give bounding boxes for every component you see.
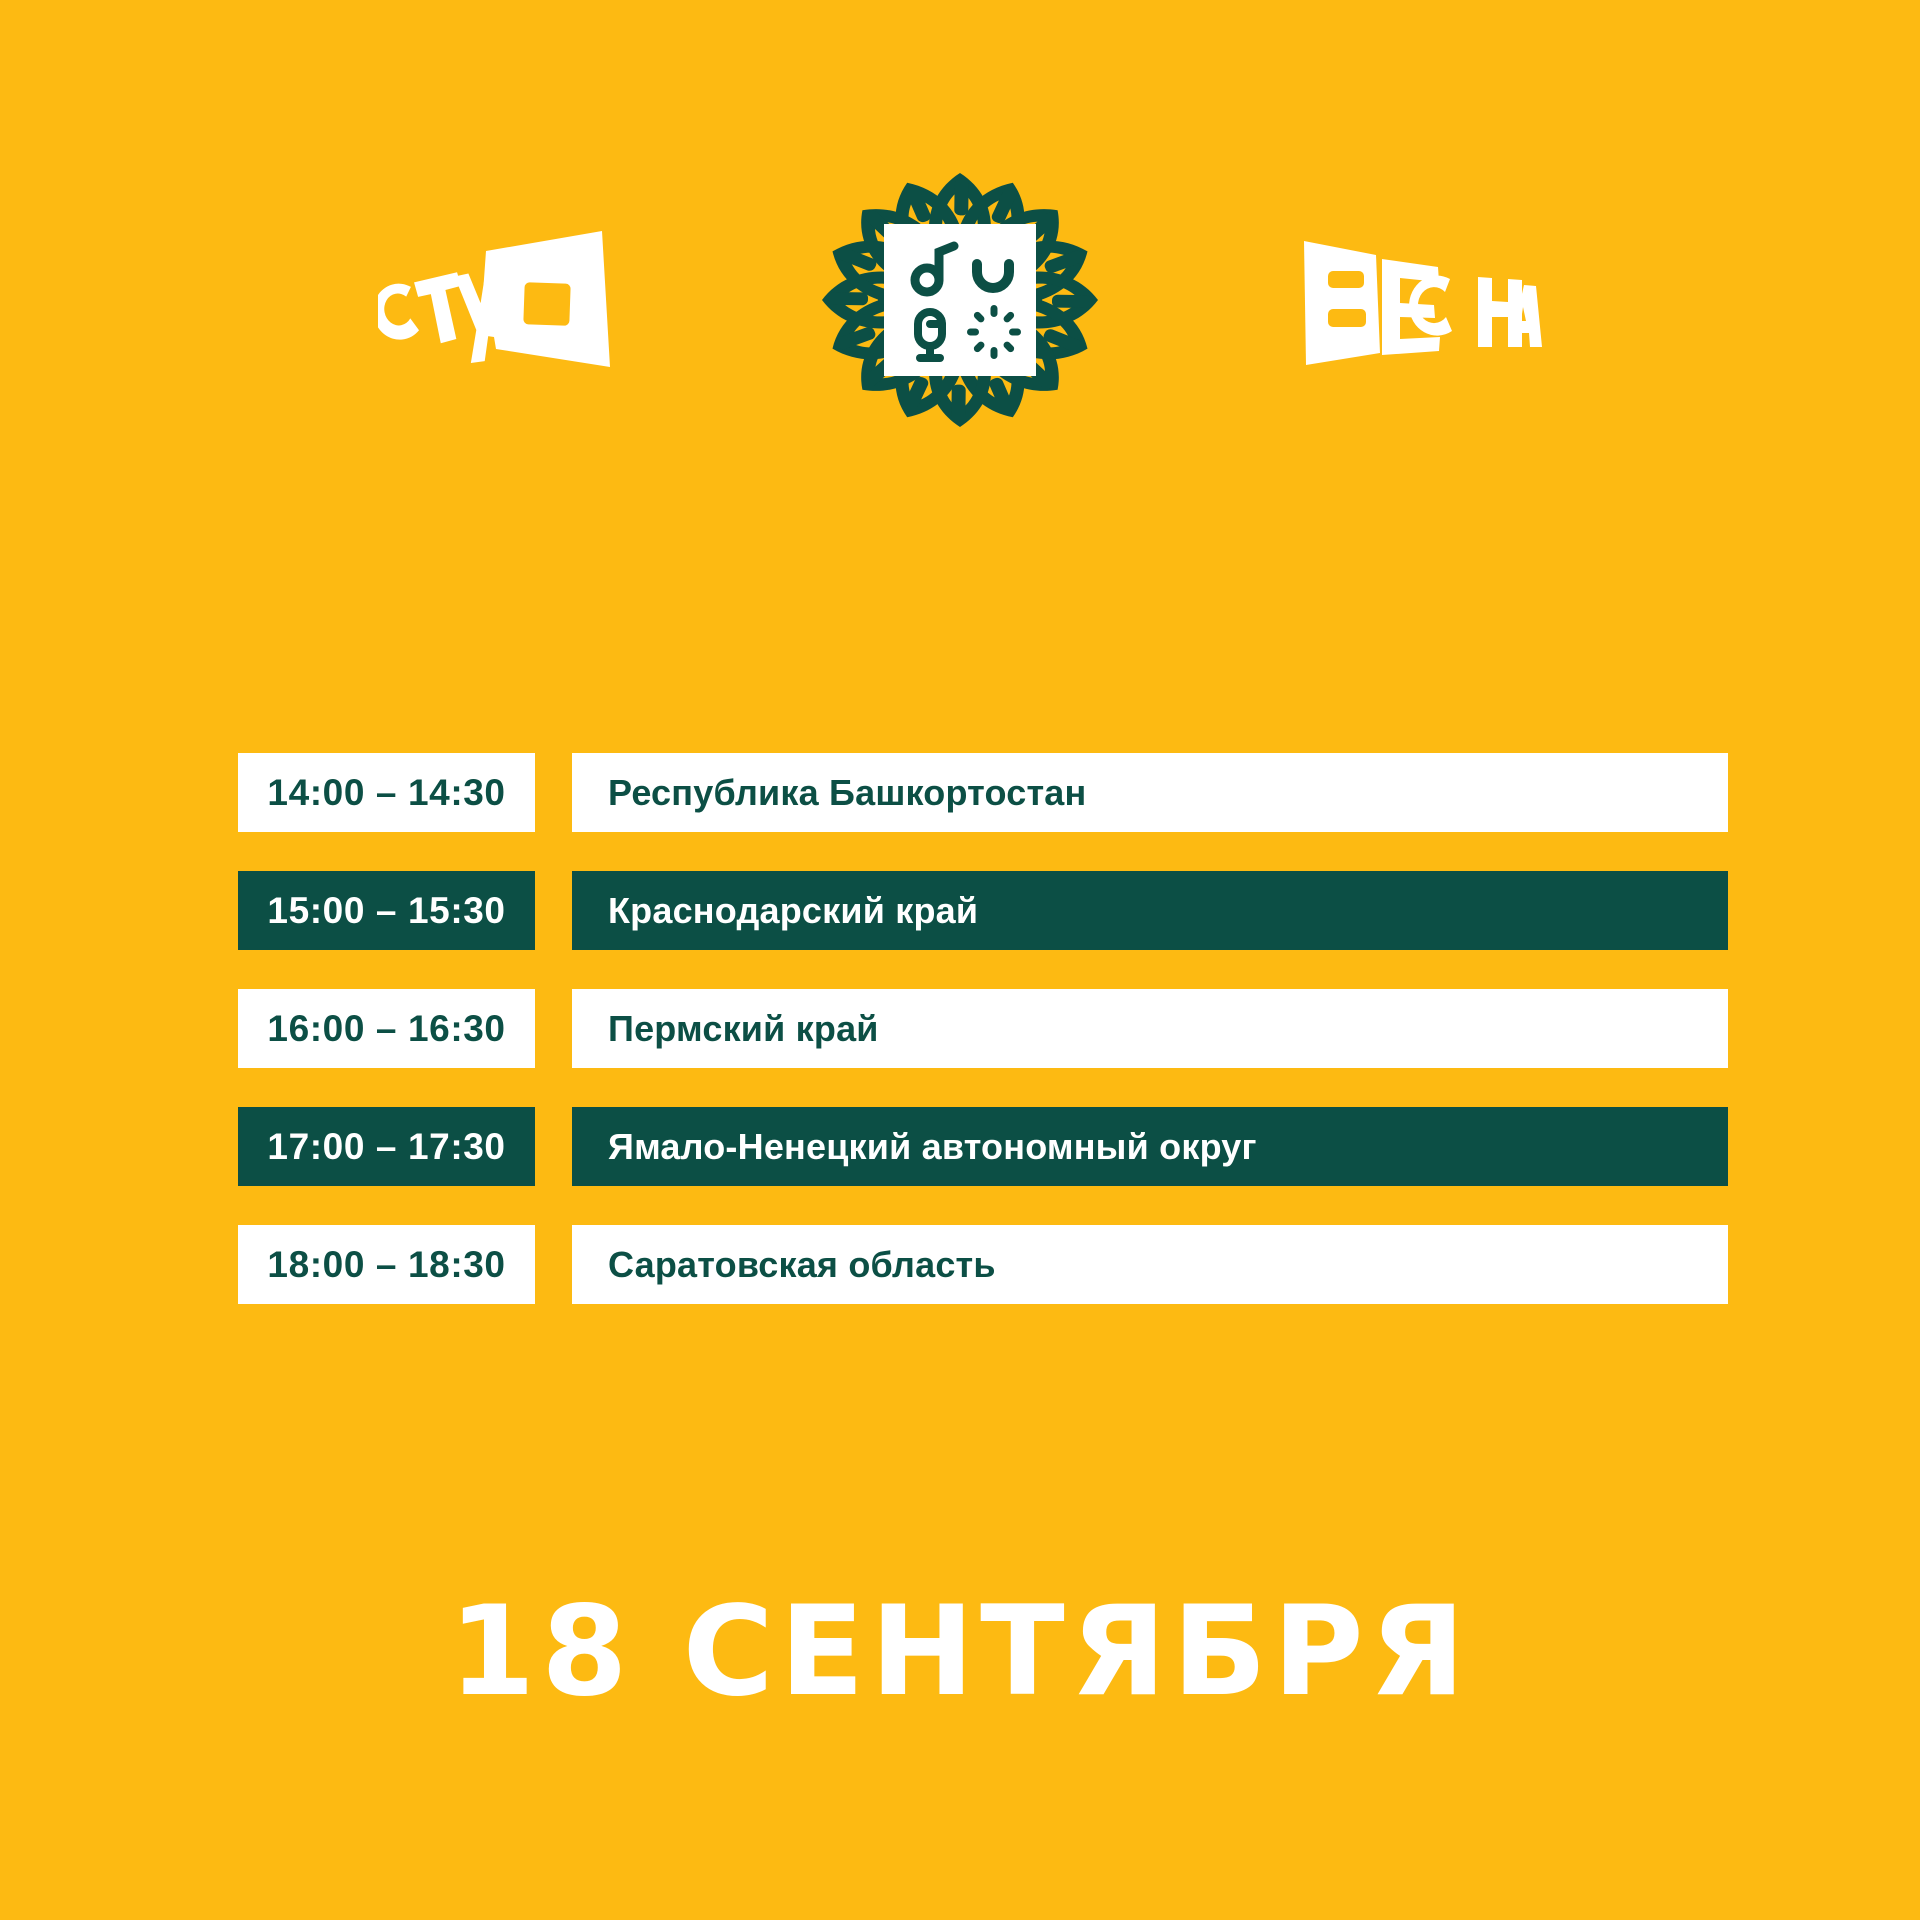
poster-canvas: 14:00 – 14:30 Республика Башкортостан 15… — [0, 0, 1920, 1920]
schedule-list: 14:00 – 14:30 Республика Башкортостан 15… — [238, 753, 1728, 1304]
logo-word-vesna — [1292, 225, 1542, 375]
schedule-region-title: Саратовская область — [572, 1225, 1728, 1304]
schedule-region-title: Пермский край — [572, 989, 1728, 1068]
table-row: 14:00 – 14:30 Республика Башкортостан — [238, 753, 1728, 832]
schedule-region-title: Республика Башкортостан — [572, 753, 1728, 832]
event-date: 18 СЕНТЯБРЯ — [0, 1590, 1920, 1714]
schedule-time-slot: 17:00 – 17:30 — [238, 1107, 535, 1186]
schedule-time-slot: 14:00 – 14:30 — [238, 753, 535, 832]
microphone-icon — [918, 312, 942, 358]
logo-word-stud — [378, 225, 610, 375]
schedule-time-slot: 18:00 – 18:30 — [238, 1225, 535, 1304]
music-note-icon — [915, 246, 954, 292]
table-row: 17:00 – 17:30 Ямало-Ненецкий автономный … — [238, 1107, 1728, 1186]
logo-icon-card — [884, 224, 1036, 376]
table-row: 15:00 – 15:30 Краснодарский край — [238, 871, 1728, 950]
smile-arc-icon — [977, 264, 1009, 288]
schedule-region-title: Ямало-Ненецкий автономный округ — [572, 1107, 1728, 1186]
schedule-time-slot: 15:00 – 15:30 — [238, 871, 535, 950]
schedule-region-title: Краснодарский край — [572, 871, 1728, 950]
sun-burst-icon — [967, 305, 1021, 359]
table-row: 18:00 – 18:30 Саратовская область — [238, 1225, 1728, 1304]
table-row: 16:00 – 16:30 Пермский край — [238, 989, 1728, 1068]
schedule-time-slot: 16:00 – 16:30 — [238, 989, 535, 1068]
logo-lockup — [0, 130, 1920, 470]
